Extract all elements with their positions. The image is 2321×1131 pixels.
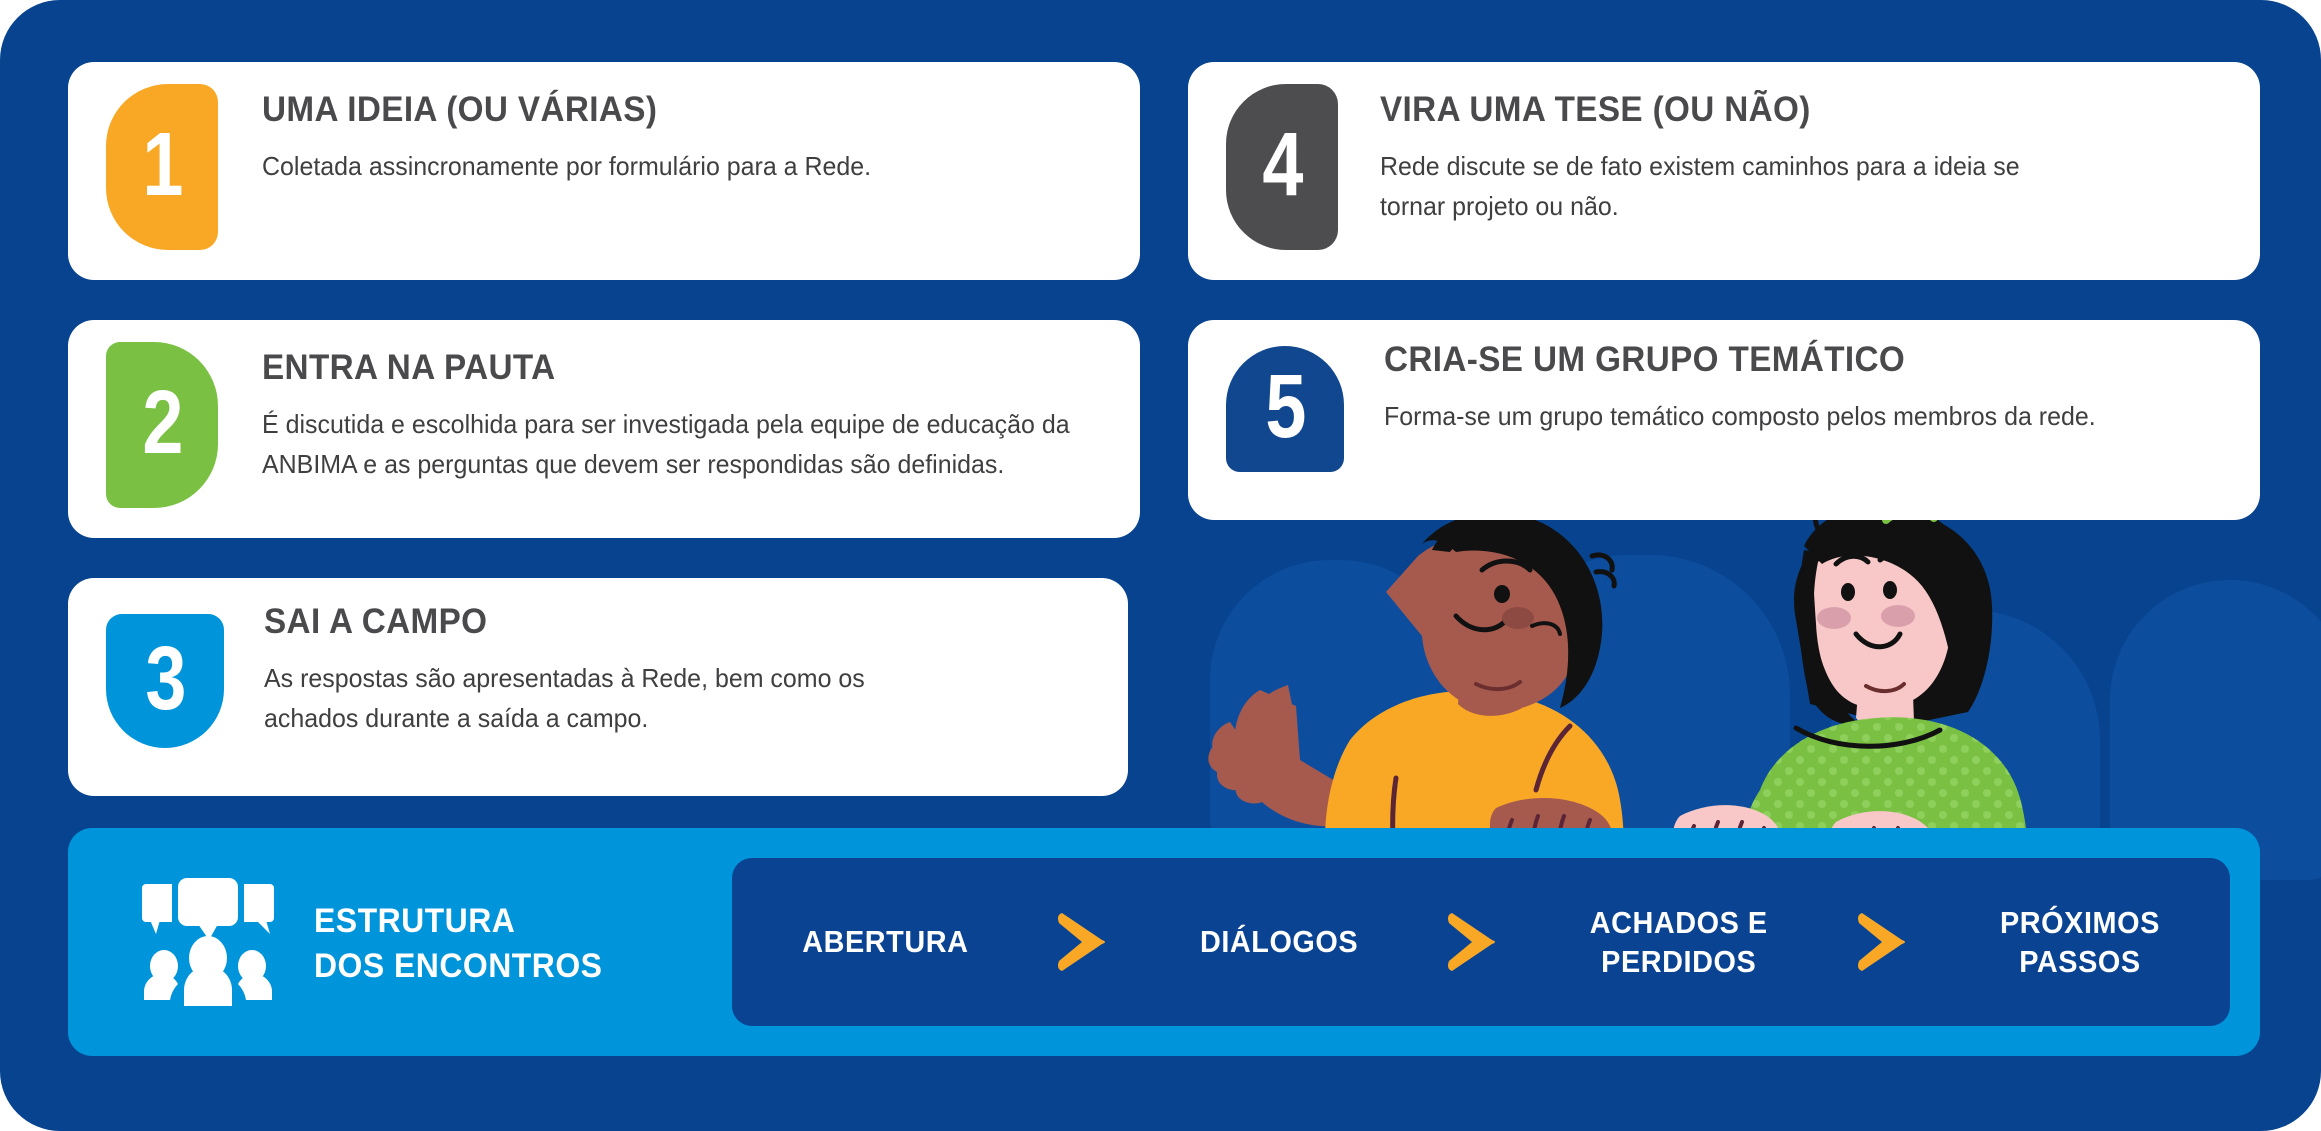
meeting-step-proximos-passos[interactable]: PRÓXIMOS PASSOS	[2000, 903, 2160, 981]
background-watermark-shape	[1210, 560, 1460, 860]
step-number-badge-1: 1	[106, 84, 218, 250]
step-card-1-text: UMA IDEIA (OU VÁRIAS) Coletada assincron…	[262, 84, 896, 186]
step-card-5: 5 CRIA-SE UM GRUPO TEMÁTICO Forma-se um …	[1188, 320, 2260, 520]
step-title-1: UMA IDEIA (OU VÁRIAS)	[262, 90, 865, 130]
step-title-5: CRIA-SE UM GRUPO TEMÁTICO	[1384, 340, 2088, 380]
structure-title: ESTRUTURA DOS ENCONTROS	[314, 899, 602, 989]
chevron-right-icon	[1056, 911, 1112, 973]
step-card-3: 3 SAI A CAMPO As respostas são apresenta…	[68, 578, 1128, 796]
step-number-1: 1	[142, 120, 181, 210]
step-description-3: As respostas são apresentadas à Rede, be…	[264, 658, 936, 739]
chevron-right-icon	[1856, 911, 1912, 973]
step-card-1: 1 UMA IDEIA (OU VÁRIAS) Coletada assincr…	[68, 62, 1140, 280]
step-description-4: Rede discute se de fato existem caminhos…	[1380, 146, 2042, 227]
step-number-badge-3: 3	[106, 614, 224, 748]
meeting-step-dialogos[interactable]: DIÁLOGOS	[1200, 922, 1358, 961]
step-card-5-text: CRIA-SE UM GRUPO TEMÁTICO Forma-se um gr…	[1384, 334, 2125, 436]
meeting-structure-bar: ESTRUTURA DOS ENCONTROS ABERTURA DIÁLOGO…	[68, 828, 2260, 1056]
infographic-canvas: 1 UMA IDEIA (OU VÁRIAS) Coletada assincr…	[0, 0, 2321, 1131]
two-people-at-table-illustration	[1200, 490, 2200, 860]
step-description-5: Forma-se um grupo temático composto pelo…	[1384, 396, 2096, 436]
chevron-right-icon	[1446, 911, 1502, 973]
meeting-step-achados-e-perdidos[interactable]: ACHADOS E PERDIDOS	[1590, 903, 1768, 981]
step-description-1: Coletada assincronamente por formulário …	[262, 146, 871, 186]
step-number-badge-4: 4	[1226, 84, 1338, 250]
step-number-5: 5	[1265, 362, 1304, 452]
step-number-3: 3	[145, 634, 184, 724]
step-card-4: 4 VIRA UMA TESE (OU NÃO) Rede discute se…	[1188, 62, 2260, 280]
meeting-step-abertura[interactable]: ABERTURA	[802, 922, 968, 961]
step-title-2: ENTRA NA PAUTA	[262, 348, 1096, 388]
step-number-badge-5: 5	[1226, 346, 1344, 472]
meeting-steps-panel: ABERTURA DIÁLOGOS ACHADOS E PERDIDOS PRÓ…	[732, 858, 2230, 1026]
step-number-2: 2	[142, 378, 181, 468]
structure-label-block: ESTRUTURA DOS ENCONTROS	[142, 874, 702, 1014]
group-discussion-icon	[142, 878, 274, 1011]
step-title-3: SAI A CAMPO	[264, 602, 929, 642]
step-title-4: VIRA UMA TESE (OU NÃO)	[1380, 90, 2036, 130]
step-card-4-text: VIRA UMA TESE (OU NÃO) Rede discute se d…	[1380, 84, 2070, 227]
step-number-badge-2: 2	[106, 342, 218, 508]
step-number-4: 4	[1262, 120, 1301, 210]
step-description-2: É discutida e escolhida para ser investi…	[262, 404, 1105, 485]
step-card-2: 2 ENTRA NA PAUTA É discutida e escolhida…	[68, 320, 1140, 538]
step-card-2-text: ENTRA NA PAUTA É discutida e escolhida p…	[262, 342, 1140, 485]
step-card-3-text: SAI A CAMPO As respostas são apresentada…	[264, 596, 964, 739]
